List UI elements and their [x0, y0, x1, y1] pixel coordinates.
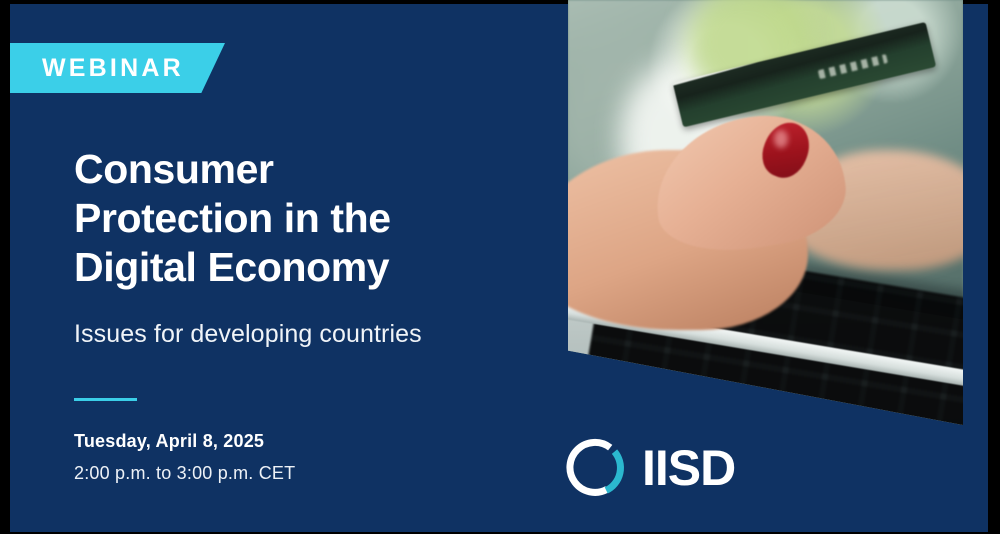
text-column: Consumer Protection in the Digital Econo… [74, 145, 544, 485]
event-date: Tuesday, April 8, 2025 [74, 429, 544, 453]
event-time: 2:00 p.m. to 3:00 p.m. CET [74, 461, 544, 485]
credit-card-embossing [818, 54, 888, 79]
iisd-broken-circle-icon [566, 437, 628, 499]
webinar-badge-label: WEBINAR [10, 56, 184, 81]
page-title: Consumer Protection in the Digital Econo… [74, 145, 544, 292]
hero-photo [568, 0, 963, 425]
accent-divider [74, 398, 137, 401]
webinar-badge: WEBINAR [10, 43, 225, 93]
page-subtitle: Issues for developing countries [74, 318, 544, 350]
page-title-line-3: Digital Economy [74, 243, 544, 292]
webinar-promo-poster: WEBINAR Consumer Protection in the Digit… [0, 0, 1000, 534]
page-title-line-2: Protection in the [74, 194, 544, 243]
iisd-logo: IISD [566, 437, 735, 499]
page-title-line-1: Consumer [74, 145, 544, 194]
iisd-wordmark: IISD [642, 443, 735, 493]
fingernail-highlight [774, 130, 788, 148]
